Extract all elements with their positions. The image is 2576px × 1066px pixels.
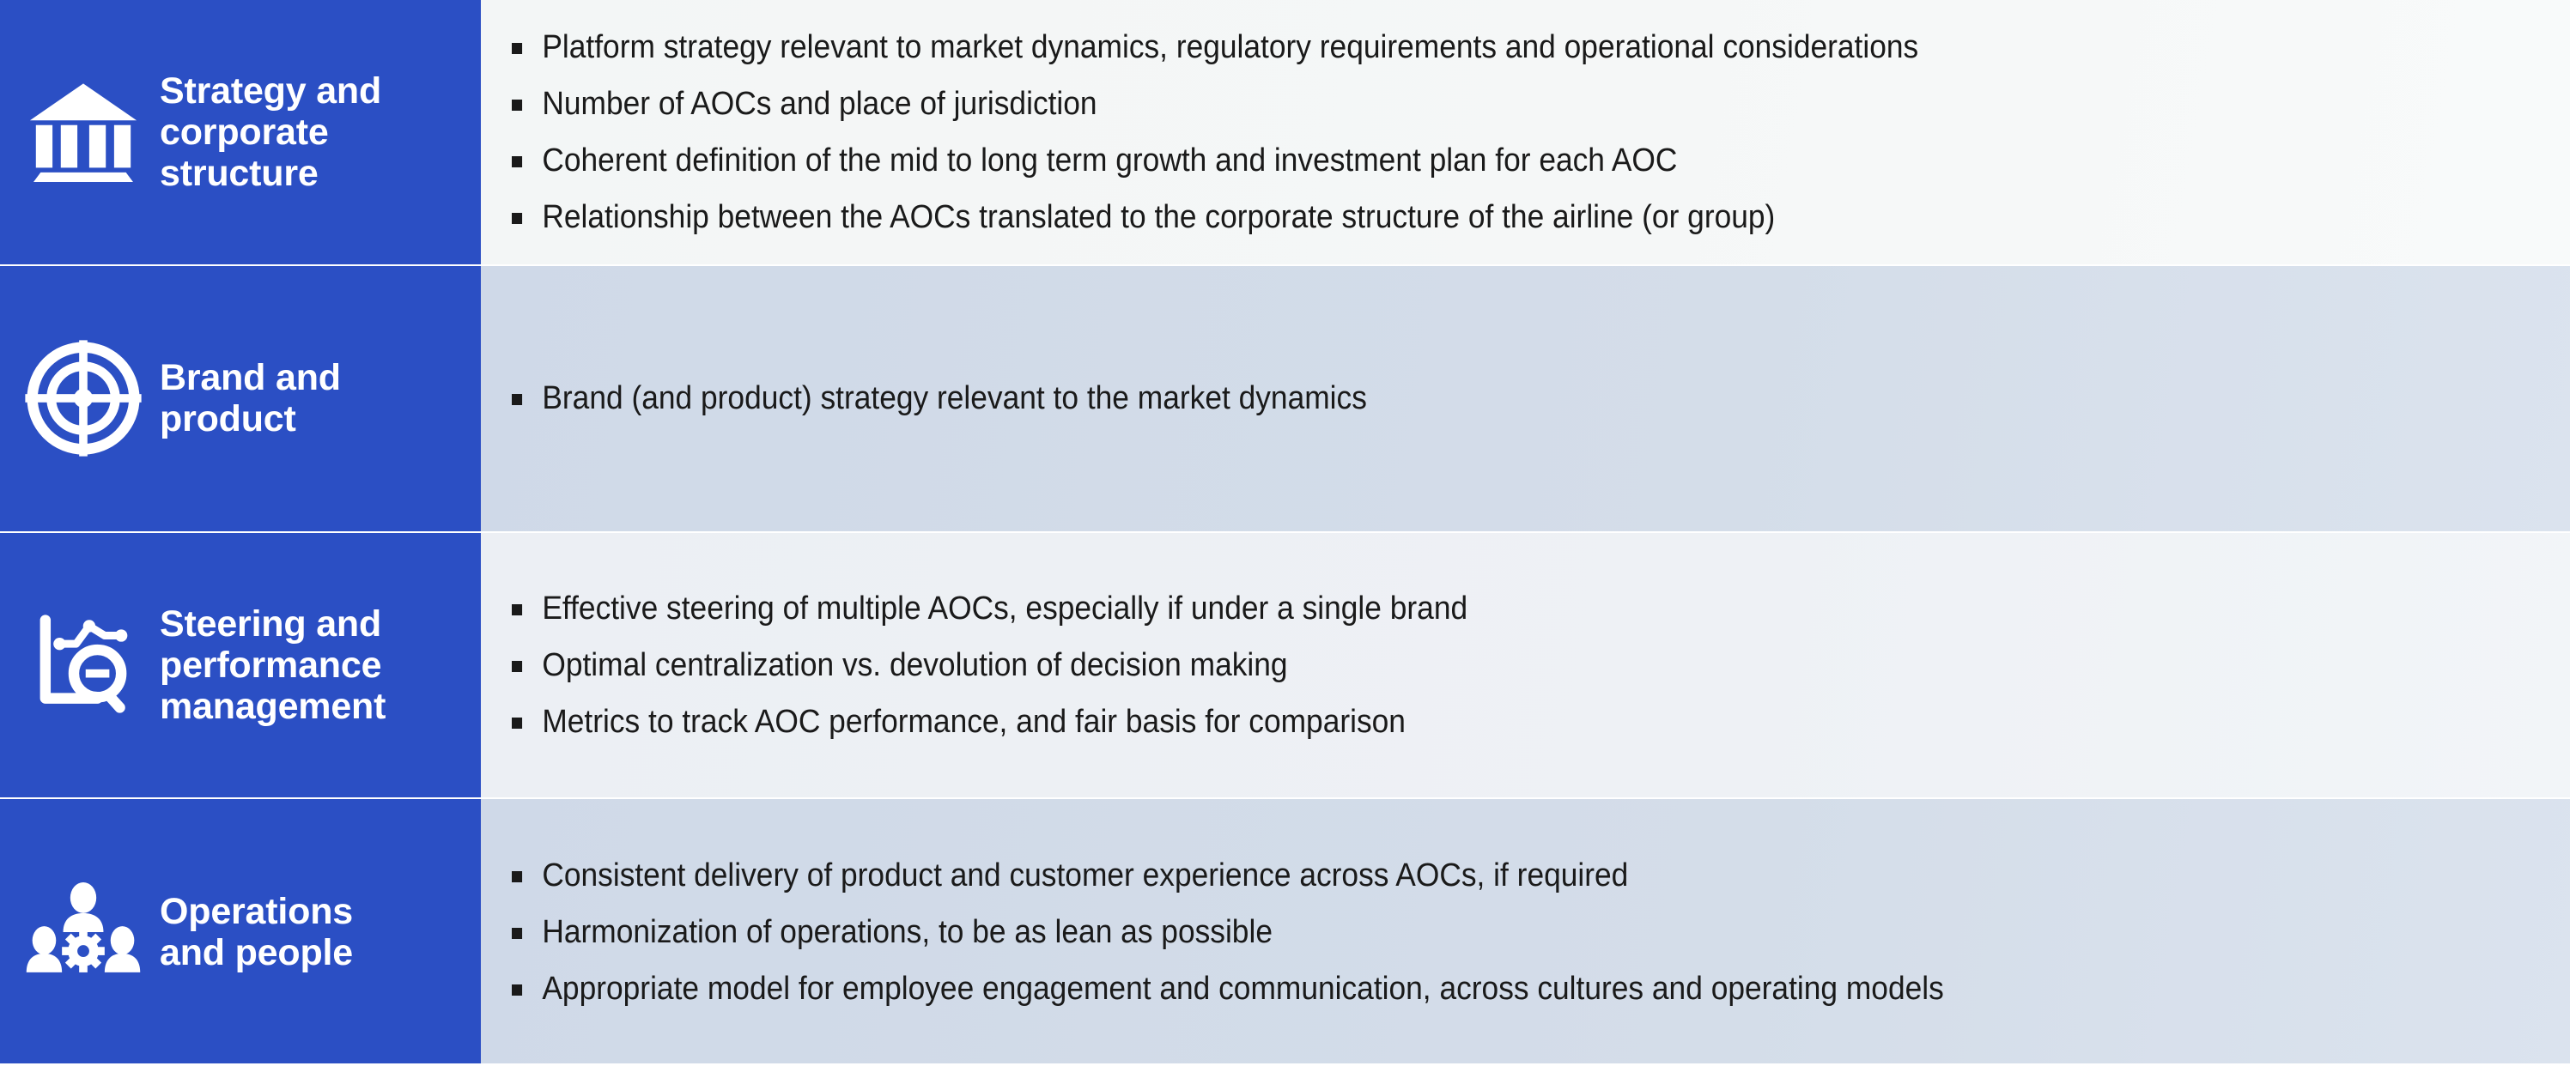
- list-item: Metrics to track AOC performance, and fa…: [512, 706, 2421, 738]
- list-item: Platform strategy relevant to market dyn…: [512, 31, 2421, 64]
- bullet-text: Effective steering of multiple AOCs, esp…: [542, 591, 1467, 627]
- list-item: Optimal centralization vs. devolution of…: [512, 649, 2421, 681]
- row-content-cell-strategy: Platform strategy relevant to market dyn…: [481, 0, 2576, 264]
- matrix-row-operations-and-people: Operations and people Consistent deliver…: [0, 799, 2576, 1066]
- chart-magnifier-icon: [19, 601, 148, 730]
- bullet-list-strategy: Platform strategy relevant to market dyn…: [512, 31, 2564, 233]
- bullet-square-icon: [512, 661, 522, 672]
- bullet-square-icon: [512, 213, 522, 224]
- bullet-square-icon: [512, 984, 522, 996]
- list-item: Relationship between the AOCs translated…: [512, 201, 2421, 233]
- list-item: Harmonization of operations, to be as le…: [512, 916, 2421, 948]
- row-content-cell-steering: Effective steering of multiple AOCs, esp…: [481, 533, 2576, 797]
- bullet-square-icon: [512, 394, 522, 405]
- bullet-text: Relationship between the AOCs translated…: [542, 199, 1775, 235]
- list-item: Number of AOCs and place of jurisdiction: [512, 88, 2421, 120]
- row-label-text-operations: Operations and people: [160, 891, 353, 973]
- four-pillar-matrix: Strategy and corporate structure Platfor…: [0, 0, 2576, 1066]
- row-label-cell-brand: Brand and product: [0, 266, 481, 532]
- bullet-text: Consistent delivery of product and custo…: [542, 857, 1628, 893]
- row-label-cell-operations: Operations and people: [0, 799, 481, 1066]
- bullet-list-steering: Effective steering of multiple AOCs, esp…: [512, 592, 2564, 738]
- bullet-square-icon: [512, 928, 522, 939]
- row-label-cell-steering: Steering and performance management: [0, 533, 481, 797]
- people-gear-icon: [19, 868, 148, 996]
- bullet-text: Platform strategy relevant to market dyn…: [542, 29, 1918, 65]
- row-label-cell-strategy: Strategy and corporate structure: [0, 0, 481, 264]
- bullet-square-icon: [512, 43, 522, 54]
- list-item: Consistent delivery of product and custo…: [512, 859, 2421, 892]
- bullet-text: Number of AOCs and place of jurisdiction: [542, 86, 1097, 122]
- bullet-square-icon: [512, 156, 522, 167]
- target-crosshair-icon: [19, 334, 148, 463]
- row-label-text-strategy: Strategy and corporate structure: [160, 70, 381, 194]
- bullet-square-icon: [512, 100, 522, 111]
- list-item: Appropriate model for employee engagemen…: [512, 972, 2421, 1005]
- bullet-text: Optimal centralization vs. devolution of…: [542, 647, 1287, 683]
- matrix-row-strategy-and-corporate-structure: Strategy and corporate structure Platfor…: [0, 0, 2576, 264]
- list-item: Brand (and product) strategy relevant to…: [512, 382, 2421, 415]
- list-item: Effective steering of multiple AOCs, esp…: [512, 592, 2421, 625]
- bullet-list-brand: Brand (and product) strategy relevant to…: [512, 382, 2564, 415]
- row-content-cell-operations: Consistent delivery of product and custo…: [481, 799, 2576, 1066]
- bullet-square-icon: [512, 871, 522, 882]
- bullet-text: Metrics to track AOC performance, and fa…: [542, 704, 1406, 740]
- bullet-square-icon: [512, 604, 522, 615]
- bullet-square-icon: [512, 718, 522, 729]
- matrix-row-steering-and-performance-management: Steering and performance management Effe…: [0, 533, 2576, 797]
- matrix-row-brand-and-product: Brand and product Brand (and product) st…: [0, 266, 2576, 532]
- row-label-text-steering: Steering and performance management: [160, 603, 386, 727]
- bullet-text: Brand (and product) strategy relevant to…: [542, 380, 1367, 416]
- row-label-text-brand: Brand and product: [160, 357, 341, 439]
- bullet-list-operations: Consistent delivery of product and custo…: [512, 859, 2564, 1005]
- bullet-text: Coherent definition of the mid to long t…: [542, 142, 1677, 179]
- row-content-cell-brand: Brand (and product) strategy relevant to…: [481, 266, 2576, 532]
- bank-columns-icon: [19, 68, 148, 197]
- bullet-text: Appropriate model for employee engagemen…: [542, 971, 1943, 1007]
- bullet-text: Harmonization of operations, to be as le…: [542, 914, 1273, 950]
- list-item: Coherent definition of the mid to long t…: [512, 144, 2421, 177]
